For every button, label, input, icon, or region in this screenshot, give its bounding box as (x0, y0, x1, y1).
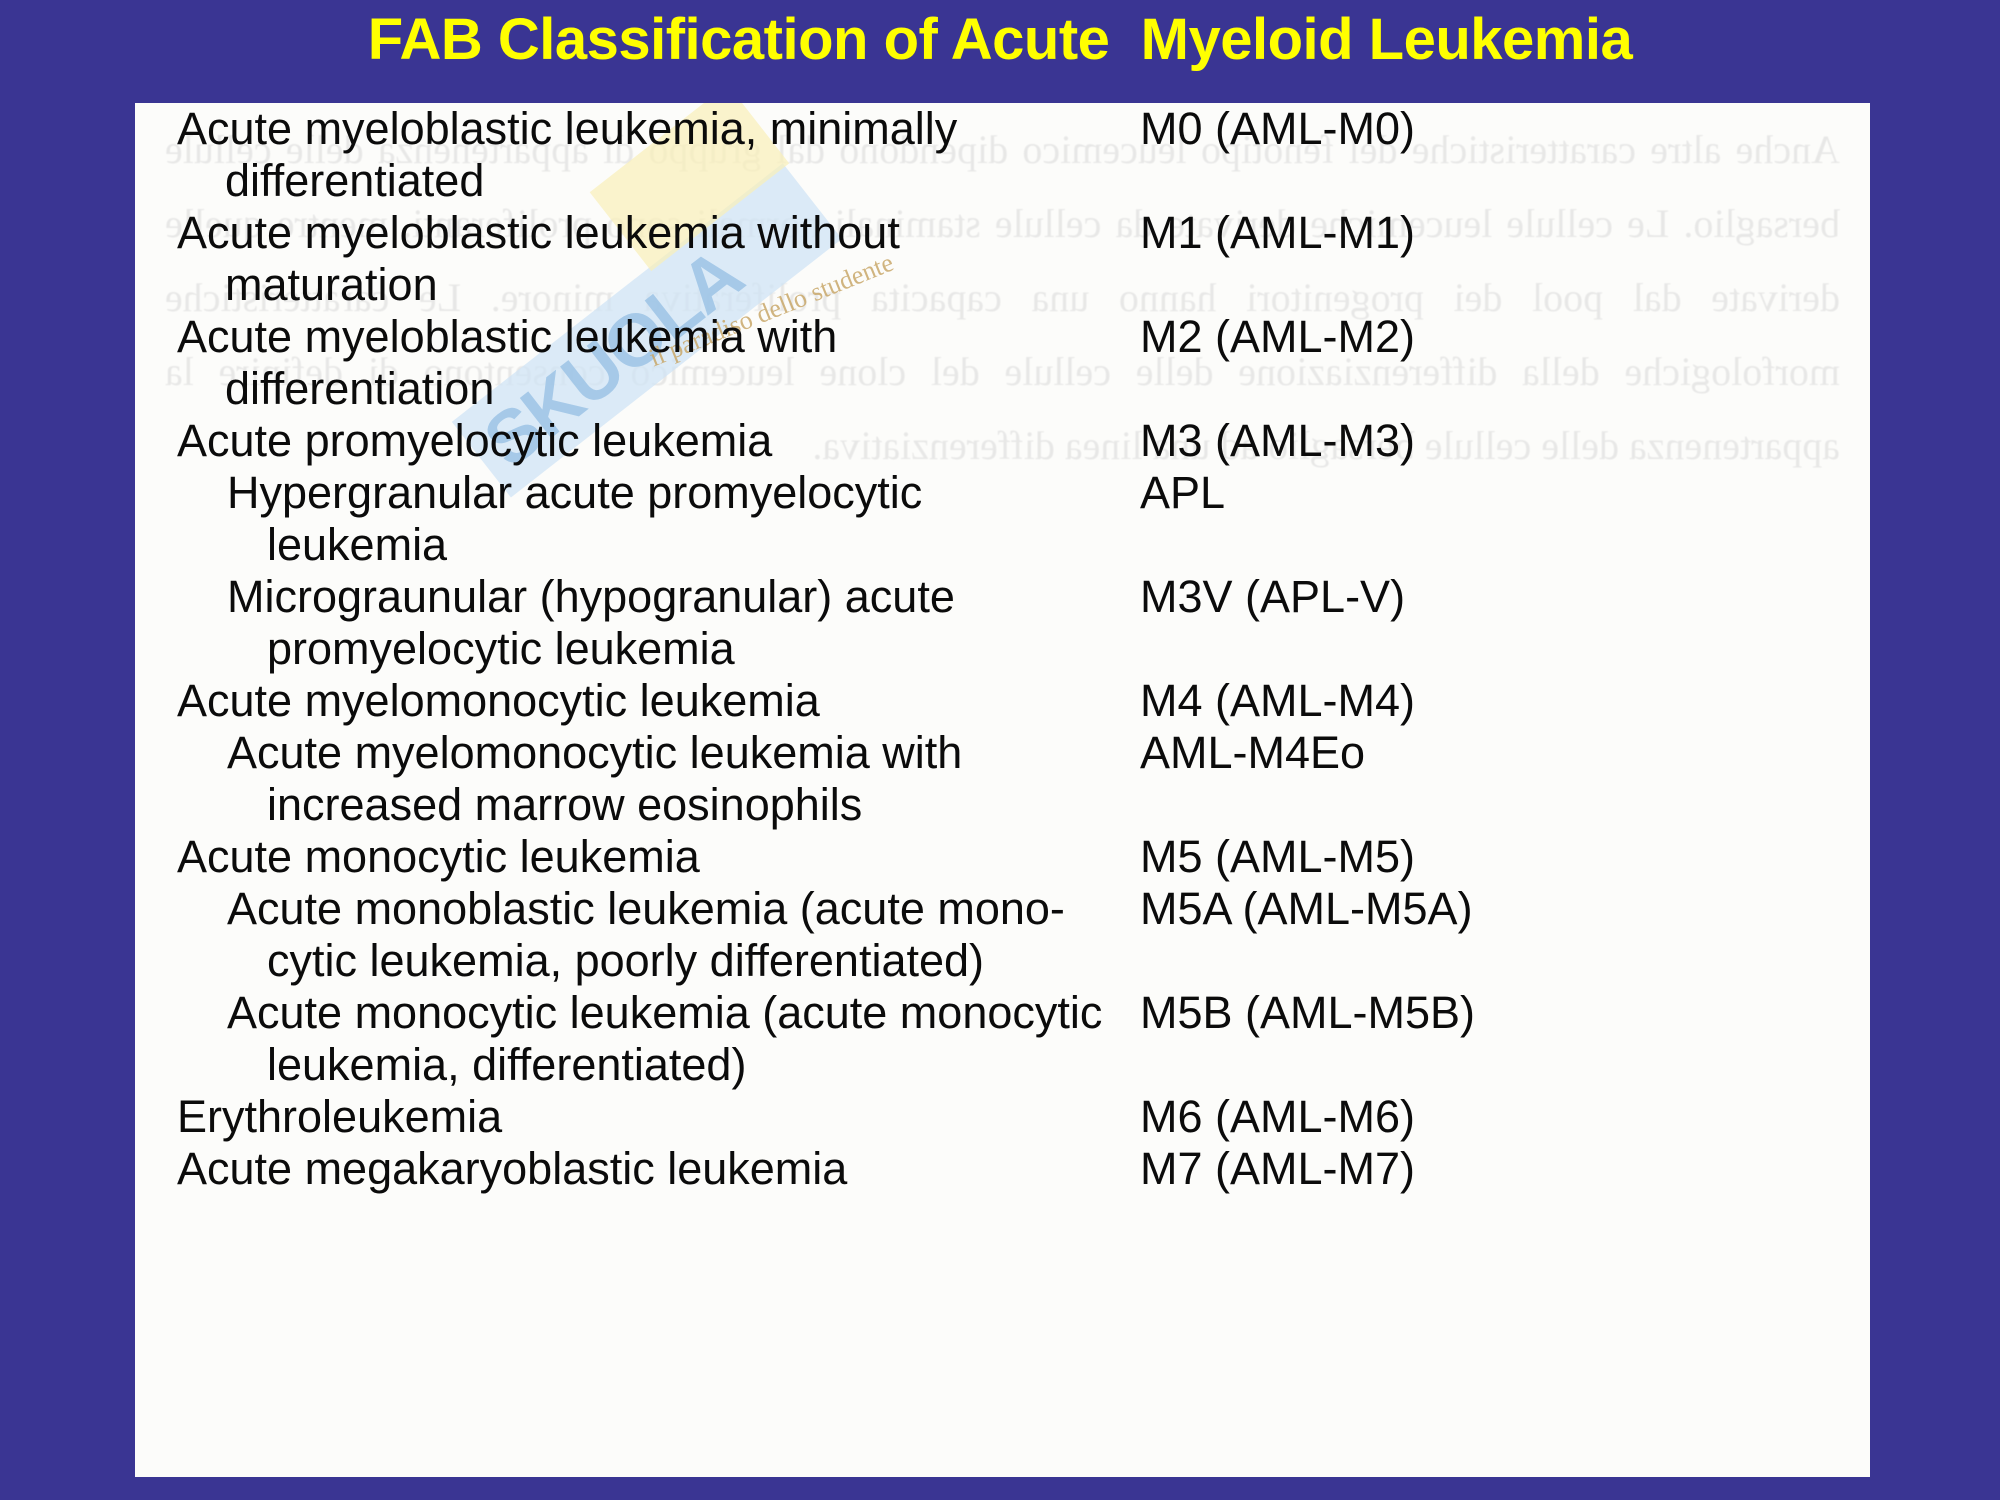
classification-code: M6 (AML-M6) (1140, 1091, 1415, 1143)
classification-row: increased marrow eosinophils (135, 779, 1870, 831)
classification-row: Acute monocytic leukemiaM5 (AML-M5) (135, 831, 1870, 883)
classification-label: Erythroleukemia (177, 1091, 502, 1143)
classification-label: Acute promyelocytic leukemia (177, 415, 772, 467)
classification-code: M3 (AML-M3) (1140, 415, 1415, 467)
classification-label: cytic leukemia, poorly differentiated) (267, 935, 984, 987)
classification-row: cytic leukemia, poorly differentiated) (135, 935, 1870, 987)
classification-row: leukemia, differentiated) (135, 1039, 1870, 1091)
classification-label: Acute myelomonocytic leukemia (177, 675, 820, 727)
classification-code: M2 (AML-M2) (1140, 311, 1415, 363)
classification-code: AML-M4Eo (1140, 727, 1365, 779)
classification-label: differentiated (225, 155, 484, 207)
classification-code: M3V (APL-V) (1140, 571, 1405, 623)
classification-row: maturation (135, 259, 1870, 311)
slide-root: FAB Classification of Acute Myeloid Leuk… (0, 0, 2000, 1500)
classification-label: Acute monoblastic leukemia (acute mono- (227, 883, 1065, 935)
classification-row: Acute monoblastic leukemia (acute mono-M… (135, 883, 1870, 935)
classification-row: Acute promyelocytic leukemiaM3 (AML-M3) (135, 415, 1870, 467)
classification-label: Acute myeloblastic leukemia without (177, 207, 900, 259)
classification-code: M1 (AML-M1) (1140, 207, 1415, 259)
classification-row: differentiation (135, 363, 1870, 415)
classification-code: M0 (AML-M0) (1140, 103, 1415, 155)
classification-row: differentiated (135, 155, 1870, 207)
classification-label: Acute monocytic leukemia (acute monocyti… (227, 987, 1102, 1039)
classification-code: M5B (AML-M5B) (1140, 987, 1475, 1039)
classification-row: Acute myelomonocytic leukemia withAML-M4… (135, 727, 1870, 779)
classification-label: maturation (225, 259, 438, 311)
classification-code: M4 (AML-M4) (1140, 675, 1415, 727)
classification-row: Acute myeloblastic leukemia withM2 (AML-… (135, 311, 1870, 363)
classification-label: Acute myeloblastic leukemia, minimally (177, 103, 957, 155)
classification-row: Acute myeloblastic leukemia withoutM1 (A… (135, 207, 1870, 259)
classification-label: Hypergranular acute promyelocytic (227, 467, 922, 519)
classification-label: differentiation (225, 363, 494, 415)
classification-row: Acute myeloblastic leukemia, minimallyM0… (135, 103, 1870, 155)
classification-row: Acute myelomonocytic leukemiaM4 (AML-M4) (135, 675, 1870, 727)
classification-row: Hypergranular acute promyelocyticAPL (135, 467, 1870, 519)
classification-label: leukemia (267, 519, 447, 571)
page-title: FAB Classification of Acute Myeloid Leuk… (0, 6, 2000, 73)
classification-label: promyelocytic leukemia (267, 623, 735, 675)
classification-row: promyelocytic leukemia (135, 623, 1870, 675)
classification-label: Acute monocytic leukemia (177, 831, 700, 883)
classification-label: increased marrow eosinophils (267, 779, 862, 831)
classification-label: leukemia, differentiated) (267, 1039, 746, 1091)
classification-row: ErythroleukemiaM6 (AML-M6) (135, 1091, 1870, 1143)
classification-code: M5 (AML-M5) (1140, 831, 1415, 883)
classification-code: APL (1140, 467, 1225, 519)
classification-list: Acute myeloblastic leukemia, minimallyM0… (135, 103, 1870, 1195)
classification-code: M7 (AML-M7) (1140, 1143, 1415, 1195)
classification-row: Acute megakaryoblastic leukemiaM7 (AML-M… (135, 1143, 1870, 1195)
classification-label: Micrograunular (hypogranular) acute (227, 571, 955, 623)
classification-row: Micrograunular (hypogranular) acuteM3V (… (135, 571, 1870, 623)
classification-label: Acute myeloblastic leukemia with (177, 311, 837, 363)
classification-code: M5A (AML-M5A) (1140, 883, 1473, 935)
classification-row: Acute monocytic leukemia (acute monocyti… (135, 987, 1870, 1039)
classification-label: Acute megakaryoblastic leukemia (177, 1143, 847, 1195)
classification-row: leukemia (135, 519, 1870, 571)
classification-label: Acute myelomonocytic leukemia with (227, 727, 962, 779)
content-panel: Anche altre caratteristiche del fenotipo… (135, 103, 1870, 1477)
